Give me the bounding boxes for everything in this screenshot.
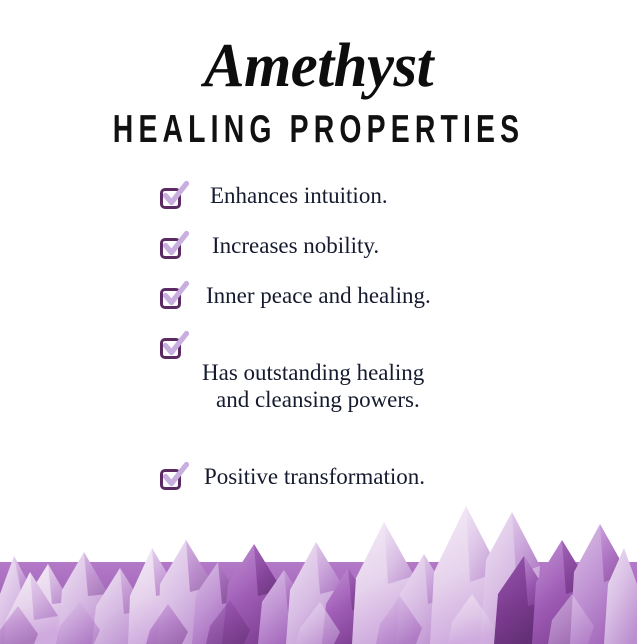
amethyst-healing-properties-poster: Amethyst HEALING PROPERTIES Enhances int… (0, 0, 637, 644)
list-item: Positive transformation. (0, 463, 637, 491)
checked-checkbox-icon (160, 186, 184, 210)
checked-checkbox-icon (160, 467, 184, 491)
checkmark-icon (162, 182, 188, 208)
list-item-text: Enhances intuition. (210, 182, 388, 209)
list-item-text: Increases nobility. (212, 232, 379, 259)
checkmark-icon (162, 463, 188, 489)
title-block: Amethyst HEALING PROPERTIES (0, 34, 637, 142)
checked-checkbox-icon (160, 236, 184, 260)
checked-checkbox-icon (160, 286, 184, 310)
healing-properties-list: Enhances intuition. Increases nobility. (0, 182, 637, 491)
list-item-text-line2: and cleansing powers. (202, 386, 424, 413)
checkmark-icon (162, 332, 188, 358)
page-subtitle: HEALING PROPERTIES (45, 109, 593, 148)
list-item: Increases nobility. (0, 232, 637, 260)
list-item-text: Positive transformation. (204, 463, 425, 490)
list-item: Has outstanding healing and cleansing po… (0, 332, 637, 441)
checkmark-icon (162, 282, 188, 308)
checked-checkbox-icon (160, 336, 184, 360)
list-item-text-multiline: Has outstanding healing and cleansing po… (202, 332, 424, 441)
list-item-text: Inner peace and healing. (206, 282, 431, 309)
page-title: Amethyst (6, 34, 630, 99)
checkmark-icon (162, 232, 188, 258)
list-item: Enhances intuition. (0, 182, 637, 210)
list-item: Inner peace and healing. (0, 282, 637, 310)
list-item-text-line1: Has outstanding healing (202, 360, 424, 385)
